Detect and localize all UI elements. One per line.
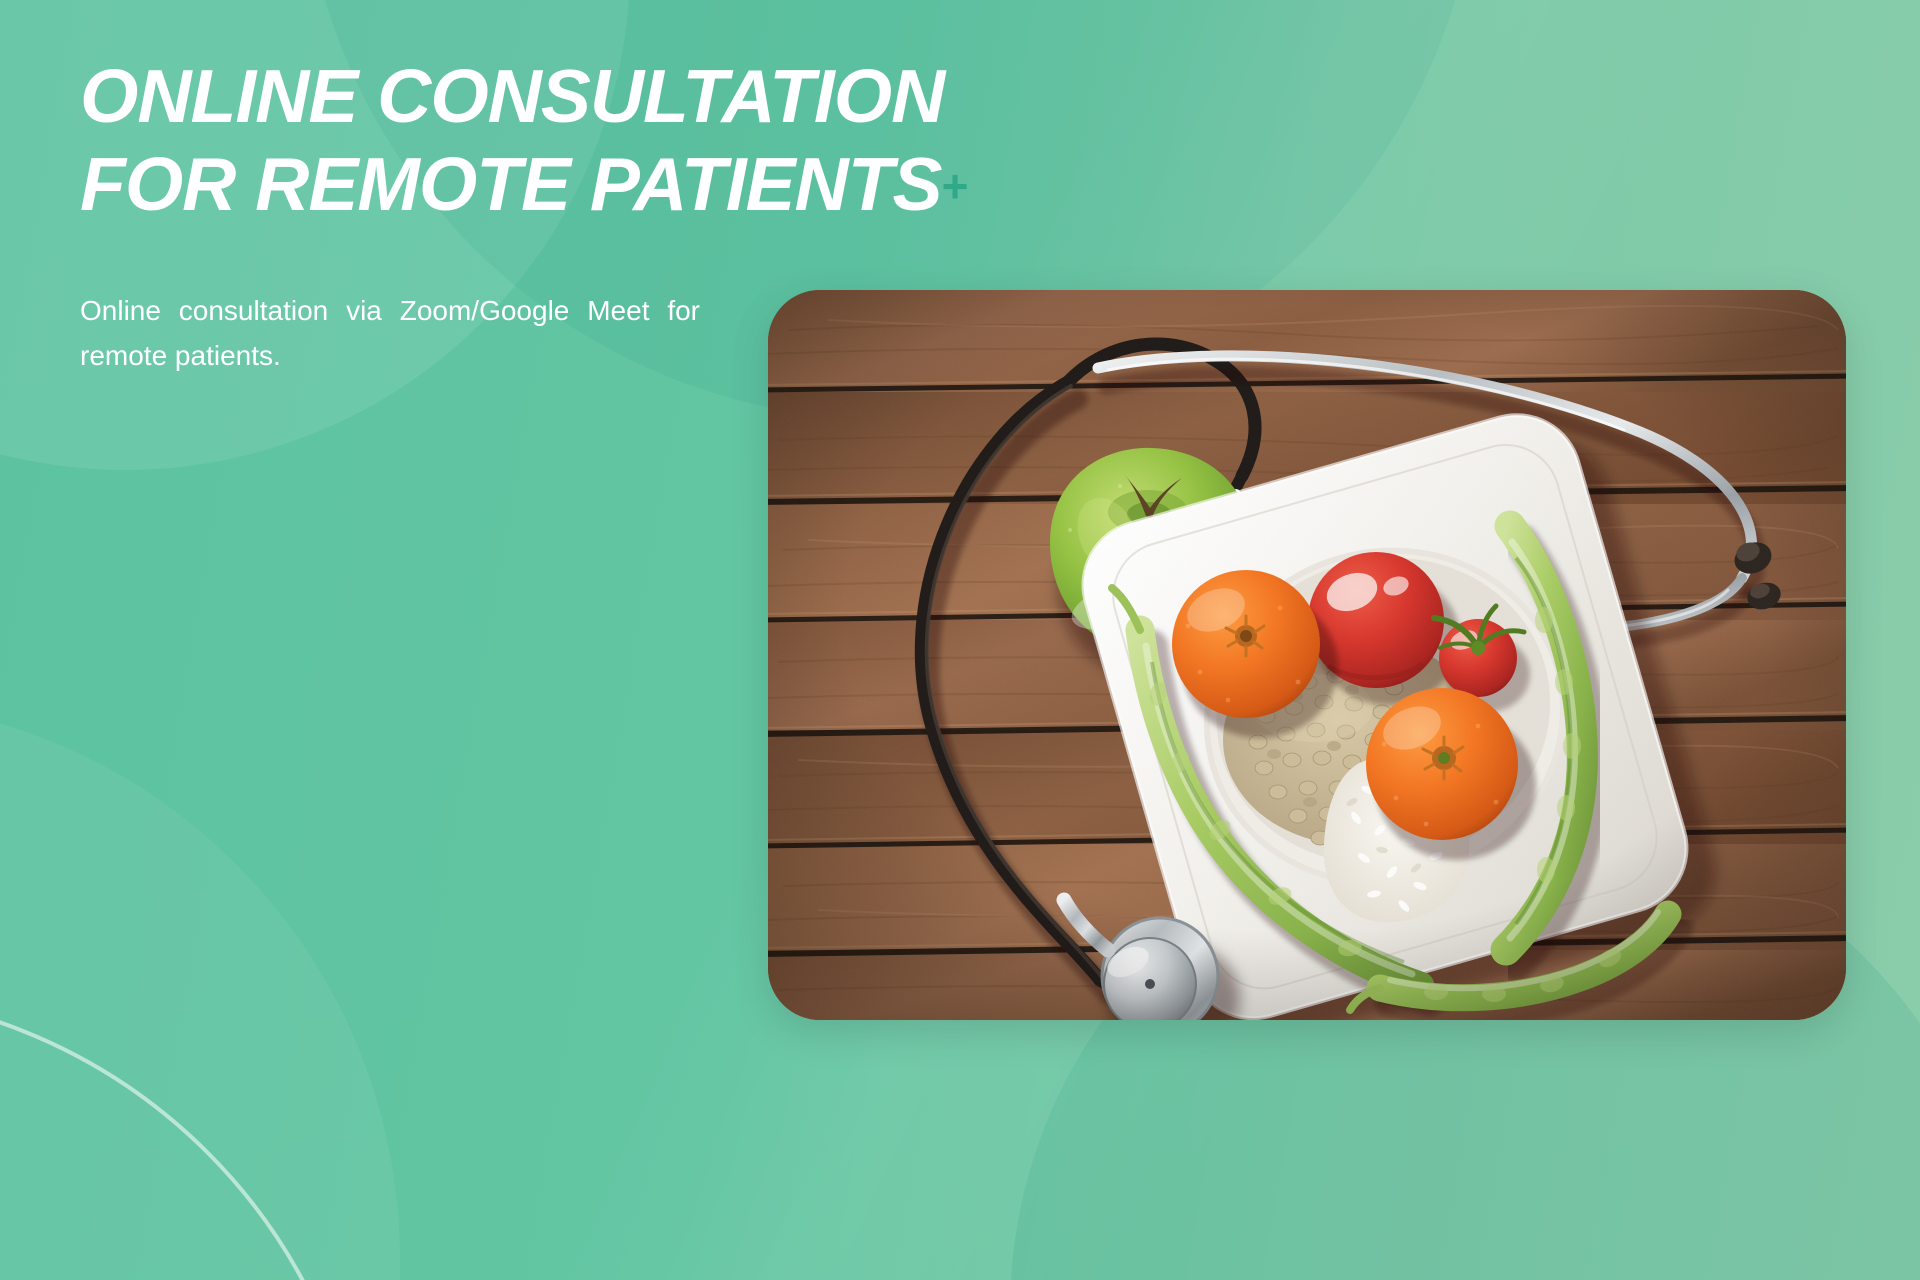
- page-title-line-2-text: FOR REMOTE PATIENTS: [80, 142, 942, 226]
- page-title-line-2: FOR REMOTE PATIENTS+: [80, 140, 1090, 230]
- page-title: ONLINE CONSULTATION FOR REMOTE PATIENTS+: [80, 52, 1090, 230]
- description-line-1: Online consultation via Zoom/Google: [80, 295, 569, 326]
- hero-photo: [768, 290, 1846, 1020]
- description-paragraph: Online consultation via Zoom/Google Meet…: [80, 288, 700, 378]
- plus-icon: +: [942, 160, 969, 212]
- page-title-line-1: ONLINE CONSULTATION: [80, 52, 1090, 140]
- slide-canvas: ONLINE CONSULTATION FOR REMOTE PATIENTS+…: [0, 0, 1920, 1280]
